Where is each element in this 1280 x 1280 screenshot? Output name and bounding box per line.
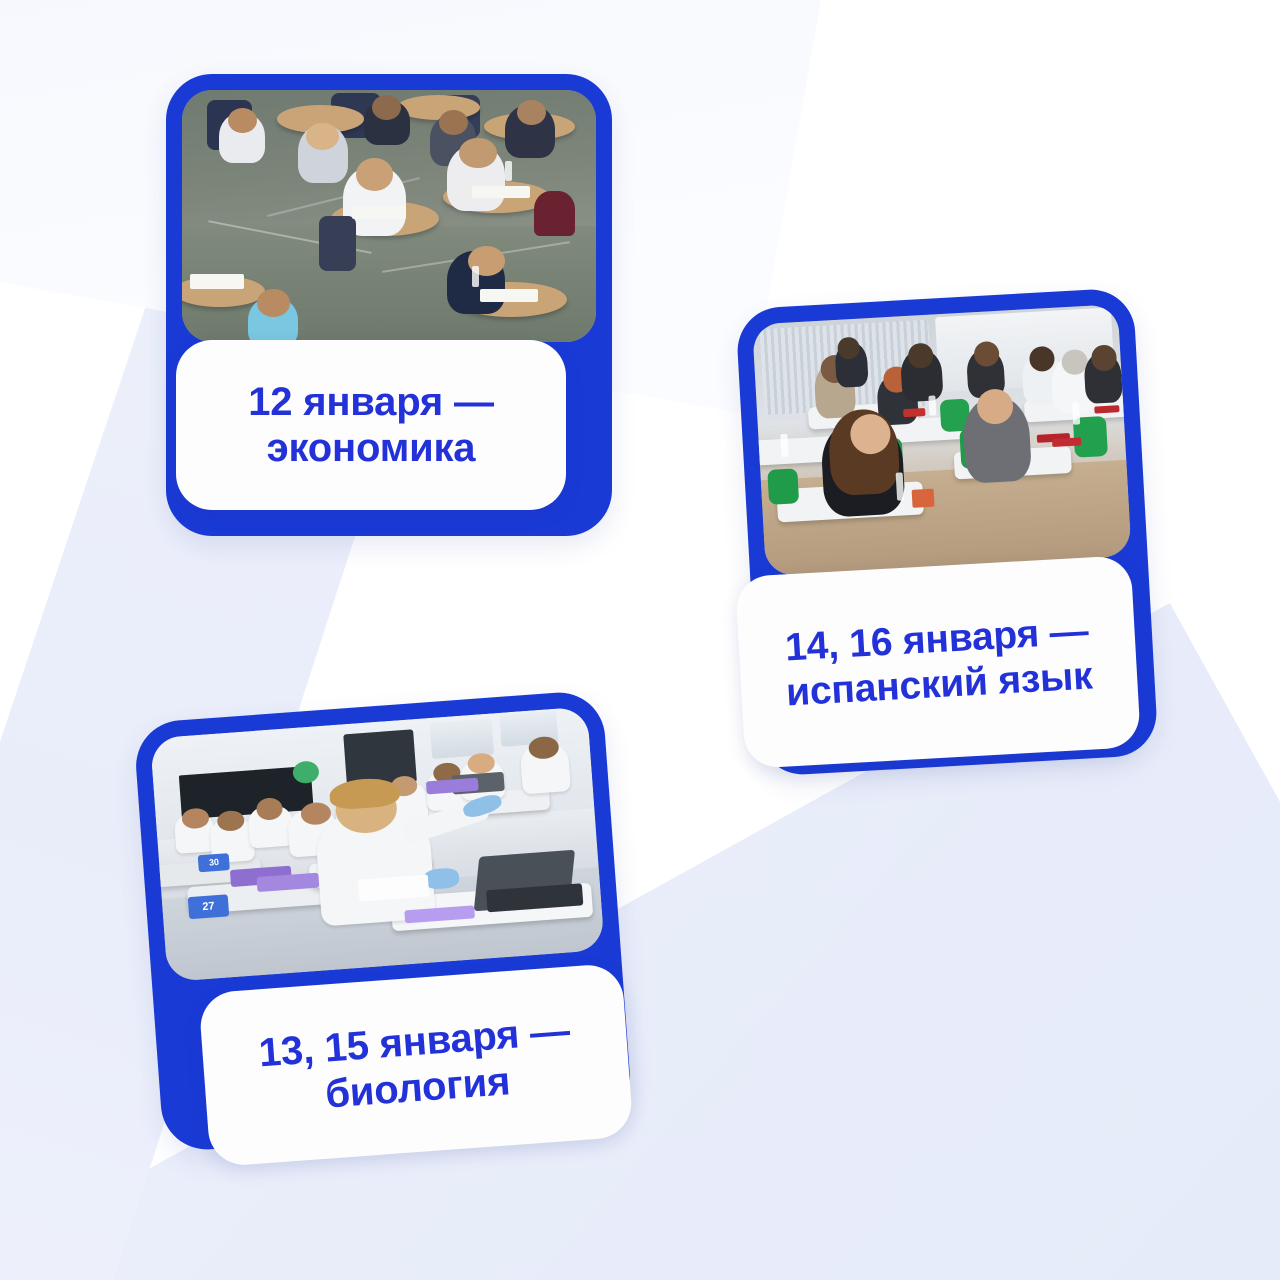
label-biology-text: 13, 15 января — биология bbox=[257, 1007, 574, 1122]
photo-biology: 27 30 bbox=[150, 706, 605, 981]
photo-spanish bbox=[752, 304, 1131, 576]
label-biology[interactable]: 13, 15 января — биология bbox=[198, 963, 634, 1168]
photo-biology-scene: 27 30 bbox=[150, 706, 605, 981]
label-economics-text: 12 января — экономика bbox=[248, 379, 494, 472]
label-spanish[interactable]: 14, 16 января — испанский язык bbox=[735, 555, 1141, 769]
photo-economics bbox=[182, 90, 596, 342]
label-economics-line2: экономика bbox=[267, 426, 476, 470]
label-economics-line1: 12 января — bbox=[248, 380, 494, 424]
poster-canvas: 12 января — экономика bbox=[0, 0, 1280, 1280]
desk-number-badge: 30 bbox=[198, 853, 230, 872]
desk-number-badge: 27 bbox=[188, 894, 229, 919]
photo-spanish-scene bbox=[752, 304, 1131, 576]
label-biology-line1: 13, 15 января — bbox=[257, 1008, 571, 1075]
photo-economics-scene bbox=[182, 90, 596, 342]
label-economics[interactable]: 12 января — экономика bbox=[176, 340, 566, 510]
label-spanish-text: 14, 16 января — испанский язык bbox=[782, 608, 1093, 715]
